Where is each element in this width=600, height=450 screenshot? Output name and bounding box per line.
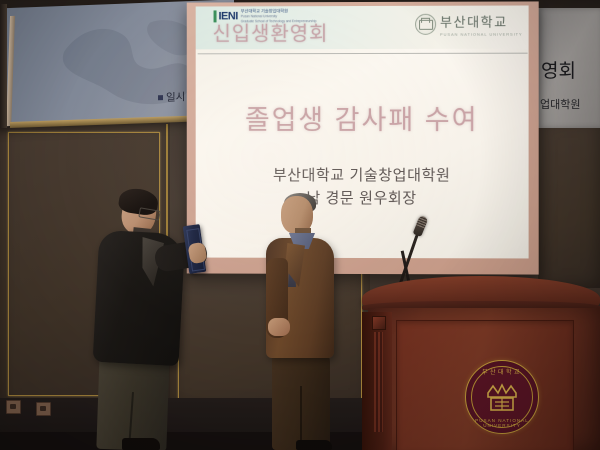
right-event-banner: 영회 업대학원 bbox=[538, 8, 600, 128]
projection-screen: IENI 부산대학교 기술창업대학원 Pusan National Univer… bbox=[196, 5, 529, 258]
wall-outlet-icon bbox=[36, 402, 51, 416]
lectern: 부산대학교 PUSAN NATIONAL UNIVERSITY bbox=[362, 268, 600, 450]
slide-logo-right: 부산대학교 PUSAN NATIONAL UNIVERSITY bbox=[415, 12, 523, 37]
banner-support-pole bbox=[0, 4, 7, 128]
slide-header-divider bbox=[198, 53, 528, 55]
slide-subtitle-2: 남 경문 원우회장 bbox=[196, 187, 529, 208]
wall-outlet-icon bbox=[6, 400, 21, 414]
presenter-shoes bbox=[122, 438, 160, 450]
seal-crown-book-icon bbox=[482, 381, 522, 413]
lectern-fluted-column bbox=[374, 332, 383, 432]
pnu-seal-icon: 부산대학교 PUSAN NATIONAL UNIVERSITY bbox=[465, 360, 539, 434]
seal-korean-text: 부산대학교 bbox=[466, 367, 538, 376]
banner-fold-edge bbox=[6, 16, 15, 127]
wall-panel-right bbox=[538, 118, 600, 288]
pnu-logo-english: PUSAN NATIONAL UNIVERSITY bbox=[440, 32, 523, 37]
pnu-crest-icon bbox=[415, 14, 436, 35]
slide-subtitle-1: 부산대학교 기술창업대학원 bbox=[196, 164, 529, 185]
seal-english-text: PUSAN NATIONAL UNIVERSITY bbox=[466, 418, 538, 428]
right-banner-line2: 업대학원 bbox=[540, 96, 580, 112]
slide-header-title: 신입생환영회 bbox=[213, 17, 329, 46]
right-banner-line1: 영회 bbox=[541, 56, 576, 83]
projection-screen-frame: IENI 부산대학교 기술창업대학원 Pusan National Univer… bbox=[187, 1, 539, 274]
recipient-hands bbox=[268, 318, 290, 336]
lectern-corner-block bbox=[372, 316, 386, 330]
photo-scene: 20 일시 : 2017. 2. 영회 업대학원 IENI 부산대학교 기술창업… bbox=[0, 0, 600, 450]
recipient-shoes bbox=[296, 440, 332, 450]
pnu-logo-korean: 부산대학교 bbox=[440, 12, 523, 31]
slide-main-title: 졸업생 감사패 수여 bbox=[196, 98, 529, 137]
square-bullet-icon bbox=[158, 95, 163, 100]
